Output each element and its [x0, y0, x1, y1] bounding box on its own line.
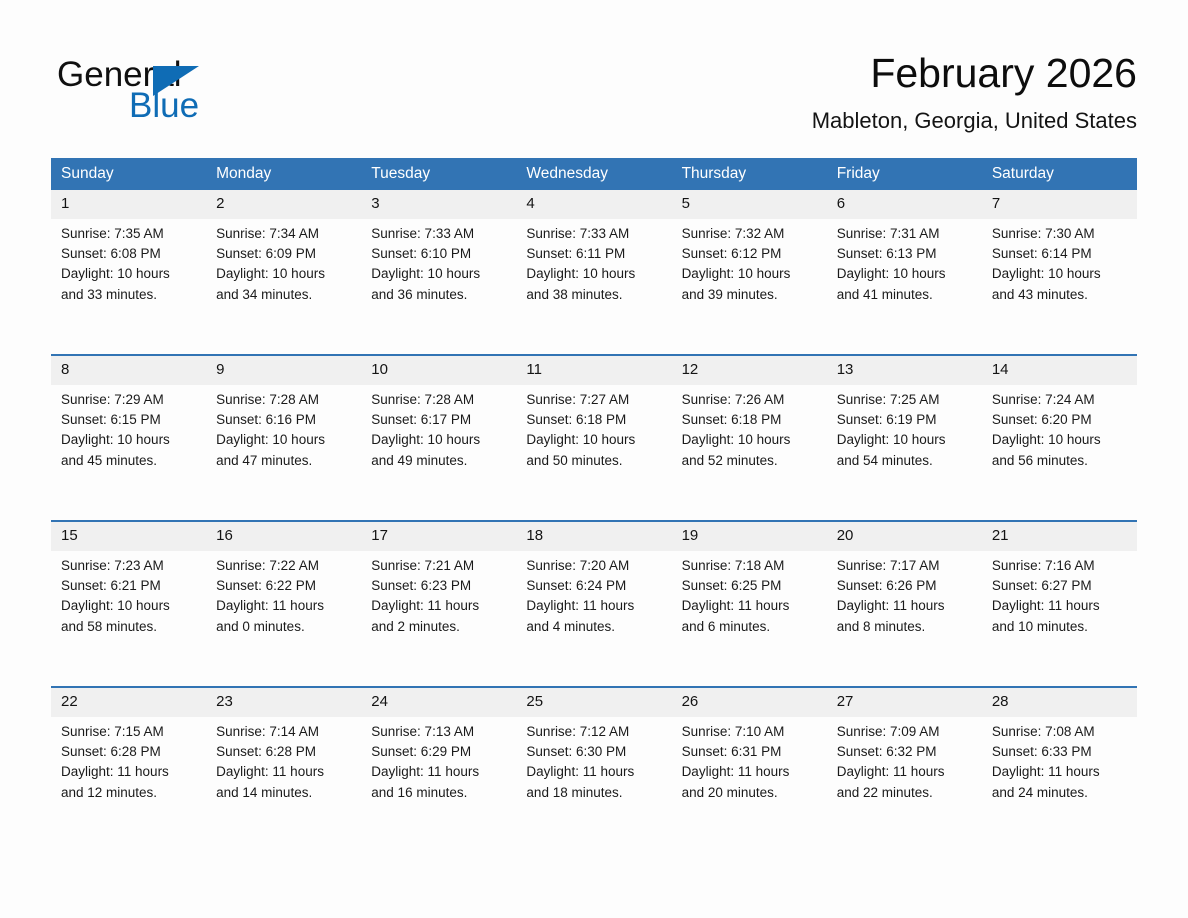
weekday-header-monday: Monday: [206, 158, 361, 190]
day-details: Sunrise: 7:35 AM Sunset: 6:08 PM Dayligh…: [51, 219, 206, 305]
week-row: 8 Sunrise: 7:29 AM Sunset: 6:15 PM Dayli…: [51, 355, 1137, 521]
logo-text-blue: Blue: [129, 87, 199, 125]
day-details: Sunrise: 7:14 AM Sunset: 6:28 PM Dayligh…: [206, 717, 361, 803]
week-row: 22 Sunrise: 7:15 AM Sunset: 6:28 PM Dayl…: [51, 687, 1137, 852]
sunrise-text: Sunrise: 7:18 AM: [682, 556, 819, 576]
day-cell[interactable]: 9 Sunrise: 7:28 AM Sunset: 6:16 PM Dayli…: [206, 355, 361, 521]
weekday-header-thursday: Thursday: [672, 158, 827, 190]
daylight-text-line1: Daylight: 11 hours: [682, 762, 819, 782]
daylight-text-line2: and 36 minutes.: [371, 285, 508, 305]
sunrise-text: Sunrise: 7:33 AM: [526, 224, 663, 244]
sunrise-text: Sunrise: 7:30 AM: [992, 224, 1129, 244]
page-title: February 2026: [812, 48, 1137, 98]
daylight-text-line2: and 54 minutes.: [837, 451, 974, 471]
day-details: Sunrise: 7:26 AM Sunset: 6:18 PM Dayligh…: [672, 385, 827, 471]
daylight-text-line1: Daylight: 10 hours: [992, 430, 1129, 450]
daylight-text-line2: and 12 minutes.: [61, 783, 198, 803]
day-number: 14: [982, 356, 1137, 385]
sunrise-text: Sunrise: 7:29 AM: [61, 390, 198, 410]
day-details: Sunrise: 7:10 AM Sunset: 6:31 PM Dayligh…: [672, 717, 827, 803]
day-number: 16: [206, 522, 361, 551]
day-number: 19: [672, 522, 827, 551]
day-number: 28: [982, 688, 1137, 717]
daylight-text-line2: and 52 minutes.: [682, 451, 819, 471]
daylight-text-line2: and 14 minutes.: [216, 783, 353, 803]
day-cell[interactable]: 4 Sunrise: 7:33 AM Sunset: 6:11 PM Dayli…: [516, 190, 671, 355]
weekday-header-wednesday: Wednesday: [516, 158, 671, 190]
day-number: 6: [827, 190, 982, 219]
daylight-text-line1: Daylight: 10 hours: [837, 264, 974, 284]
day-cell[interactable]: 27 Sunrise: 7:09 AM Sunset: 6:32 PM Dayl…: [827, 687, 982, 852]
day-cell[interactable]: 20 Sunrise: 7:17 AM Sunset: 6:26 PM Dayl…: [827, 521, 982, 687]
sunset-text: Sunset: 6:28 PM: [61, 742, 198, 762]
sunrise-text: Sunrise: 7:24 AM: [992, 390, 1129, 410]
sunset-text: Sunset: 6:32 PM: [837, 742, 974, 762]
sunrise-text: Sunrise: 7:17 AM: [837, 556, 974, 576]
sunrise-text: Sunrise: 7:25 AM: [837, 390, 974, 410]
day-cell[interactable]: 15 Sunrise: 7:23 AM Sunset: 6:21 PM Dayl…: [51, 521, 206, 687]
day-number: 8: [51, 356, 206, 385]
sunrise-text: Sunrise: 7:20 AM: [526, 556, 663, 576]
sunrise-text: Sunrise: 7:32 AM: [682, 224, 819, 244]
day-details: Sunrise: 7:28 AM Sunset: 6:16 PM Dayligh…: [206, 385, 361, 471]
day-details: Sunrise: 7:25 AM Sunset: 6:19 PM Dayligh…: [827, 385, 982, 471]
daylight-text-line1: Daylight: 11 hours: [216, 596, 353, 616]
day-number: 3: [361, 190, 516, 219]
day-details: Sunrise: 7:33 AM Sunset: 6:11 PM Dayligh…: [516, 219, 671, 305]
daylight-text-line1: Daylight: 11 hours: [526, 596, 663, 616]
sunset-text: Sunset: 6:10 PM: [371, 244, 508, 264]
sunset-text: Sunset: 6:08 PM: [61, 244, 198, 264]
day-cell[interactable]: 23 Sunrise: 7:14 AM Sunset: 6:28 PM Dayl…: [206, 687, 361, 852]
sunrise-text: Sunrise: 7:12 AM: [526, 722, 663, 742]
day-details: Sunrise: 7:31 AM Sunset: 6:13 PM Dayligh…: [827, 219, 982, 305]
day-cell[interactable]: 1 Sunrise: 7:35 AM Sunset: 6:08 PM Dayli…: [51, 190, 206, 355]
daylight-text-line1: Daylight: 10 hours: [216, 430, 353, 450]
weekday-header-saturday: Saturday: [982, 158, 1137, 190]
sunset-text: Sunset: 6:14 PM: [992, 244, 1129, 264]
daylight-text-line1: Daylight: 10 hours: [61, 596, 198, 616]
daylight-text-line1: Daylight: 10 hours: [526, 430, 663, 450]
day-cell[interactable]: 2 Sunrise: 7:34 AM Sunset: 6:09 PM Dayli…: [206, 190, 361, 355]
day-cell[interactable]: 12 Sunrise: 7:26 AM Sunset: 6:18 PM Dayl…: [672, 355, 827, 521]
day-cell[interactable]: 25 Sunrise: 7:12 AM Sunset: 6:30 PM Dayl…: [516, 687, 671, 852]
day-cell[interactable]: 28 Sunrise: 7:08 AM Sunset: 6:33 PM Dayl…: [982, 687, 1137, 852]
sunset-text: Sunset: 6:33 PM: [992, 742, 1129, 762]
daylight-text-line1: Daylight: 10 hours: [216, 264, 353, 284]
day-number: 7: [982, 190, 1137, 219]
sunrise-text: Sunrise: 7:10 AM: [682, 722, 819, 742]
day-number: 22: [51, 688, 206, 717]
day-cell[interactable]: 26 Sunrise: 7:10 AM Sunset: 6:31 PM Dayl…: [672, 687, 827, 852]
day-details: Sunrise: 7:28 AM Sunset: 6:17 PM Dayligh…: [361, 385, 516, 471]
daylight-text-line2: and 4 minutes.: [526, 617, 663, 637]
sunrise-text: Sunrise: 7:21 AM: [371, 556, 508, 576]
day-details: Sunrise: 7:24 AM Sunset: 6:20 PM Dayligh…: [982, 385, 1137, 471]
day-cell[interactable]: 24 Sunrise: 7:13 AM Sunset: 6:29 PM Dayl…: [361, 687, 516, 852]
day-number: 25: [516, 688, 671, 717]
sunrise-text: Sunrise: 7:16 AM: [992, 556, 1129, 576]
sunrise-text: Sunrise: 7:22 AM: [216, 556, 353, 576]
sunset-text: Sunset: 6:26 PM: [837, 576, 974, 596]
day-number: 1: [51, 190, 206, 219]
day-number: 9: [206, 356, 361, 385]
day-number: 10: [361, 356, 516, 385]
page-header: General Blue February 2026 Mableton, Geo…: [0, 0, 1188, 150]
daylight-text-line2: and 10 minutes.: [992, 617, 1129, 637]
day-number: 5: [672, 190, 827, 219]
day-details: Sunrise: 7:13 AM Sunset: 6:29 PM Dayligh…: [361, 717, 516, 803]
daylight-text-line1: Daylight: 11 hours: [216, 762, 353, 782]
location-subtitle: Mableton, Georgia, United States: [812, 106, 1137, 136]
daylight-text-line1: Daylight: 11 hours: [371, 762, 508, 782]
sunset-text: Sunset: 6:31 PM: [682, 742, 819, 762]
sunrise-text: Sunrise: 7:31 AM: [837, 224, 974, 244]
day-cell[interactable]: 22 Sunrise: 7:15 AM Sunset: 6:28 PM Dayl…: [51, 687, 206, 852]
day-details: Sunrise: 7:32 AM Sunset: 6:12 PM Dayligh…: [672, 219, 827, 305]
calendar-body: 1 Sunrise: 7:35 AM Sunset: 6:08 PM Dayli…: [51, 190, 1137, 852]
sunset-text: Sunset: 6:29 PM: [371, 742, 508, 762]
day-details: Sunrise: 7:16 AM Sunset: 6:27 PM Dayligh…: [982, 551, 1137, 637]
day-cell[interactable]: 17 Sunrise: 7:21 AM Sunset: 6:23 PM Dayl…: [361, 521, 516, 687]
sunset-text: Sunset: 6:24 PM: [526, 576, 663, 596]
sunrise-text: Sunrise: 7:23 AM: [61, 556, 198, 576]
day-details: Sunrise: 7:29 AM Sunset: 6:15 PM Dayligh…: [51, 385, 206, 471]
day-details: Sunrise: 7:34 AM Sunset: 6:09 PM Dayligh…: [206, 219, 361, 305]
day-details: Sunrise: 7:15 AM Sunset: 6:28 PM Dayligh…: [51, 717, 206, 803]
day-cell[interactable]: 7 Sunrise: 7:30 AM Sunset: 6:14 PM Dayli…: [982, 190, 1137, 355]
sunrise-text: Sunrise: 7:27 AM: [526, 390, 663, 410]
sunset-text: Sunset: 6:12 PM: [682, 244, 819, 264]
daylight-text-line2: and 20 minutes.: [682, 783, 819, 803]
day-cell[interactable]: 18 Sunrise: 7:20 AM Sunset: 6:24 PM Dayl…: [516, 521, 671, 687]
day-details: Sunrise: 7:12 AM Sunset: 6:30 PM Dayligh…: [516, 717, 671, 803]
day-number: 2: [206, 190, 361, 219]
daylight-text-line2: and 43 minutes.: [992, 285, 1129, 305]
day-details: Sunrise: 7:21 AM Sunset: 6:23 PM Dayligh…: [361, 551, 516, 637]
daylight-text-line1: Daylight: 11 hours: [61, 762, 198, 782]
daylight-text-line2: and 6 minutes.: [682, 617, 819, 637]
daylight-text-line1: Daylight: 11 hours: [837, 762, 974, 782]
sunset-text: Sunset: 6:19 PM: [837, 410, 974, 430]
daylight-text-line1: Daylight: 10 hours: [61, 264, 198, 284]
daylight-text-line1: Daylight: 11 hours: [837, 596, 974, 616]
daylight-text-line1: Daylight: 10 hours: [61, 430, 198, 450]
sunrise-text: Sunrise: 7:35 AM: [61, 224, 198, 244]
sunrise-text: Sunrise: 7:26 AM: [682, 390, 819, 410]
generalblue-logo[interactable]: General Blue: [57, 56, 297, 128]
sunrise-text: Sunrise: 7:08 AM: [992, 722, 1129, 742]
day-cell[interactable]: 6 Sunrise: 7:31 AM Sunset: 6:13 PM Dayli…: [827, 190, 982, 355]
sunrise-text: Sunrise: 7:13 AM: [371, 722, 508, 742]
day-details: Sunrise: 7:30 AM Sunset: 6:14 PM Dayligh…: [982, 219, 1137, 305]
day-details: Sunrise: 7:33 AM Sunset: 6:10 PM Dayligh…: [361, 219, 516, 305]
sunrise-sunset-calendar-table: Sunday Monday Tuesday Wednesday Thursday…: [51, 158, 1137, 852]
day-number: 13: [827, 356, 982, 385]
day-cell[interactable]: 13 Sunrise: 7:25 AM Sunset: 6:19 PM Dayl…: [827, 355, 982, 521]
day-cell[interactable]: 10 Sunrise: 7:28 AM Sunset: 6:17 PM Dayl…: [361, 355, 516, 521]
daylight-text-line2: and 16 minutes.: [371, 783, 508, 803]
daylight-text-line2: and 2 minutes.: [371, 617, 508, 637]
day-details: Sunrise: 7:09 AM Sunset: 6:32 PM Dayligh…: [827, 717, 982, 803]
sunrise-text: Sunrise: 7:09 AM: [837, 722, 974, 742]
sunset-text: Sunset: 6:22 PM: [216, 576, 353, 596]
sunset-text: Sunset: 6:28 PM: [216, 742, 353, 762]
sunrise-text: Sunrise: 7:14 AM: [216, 722, 353, 742]
daylight-text-line2: and 18 minutes.: [526, 783, 663, 803]
sunset-text: Sunset: 6:16 PM: [216, 410, 353, 430]
sunset-text: Sunset: 6:17 PM: [371, 410, 508, 430]
daylight-text-line2: and 50 minutes.: [526, 451, 663, 471]
daylight-text-line1: Daylight: 11 hours: [992, 596, 1129, 616]
day-details: Sunrise: 7:22 AM Sunset: 6:22 PM Dayligh…: [206, 551, 361, 637]
sunrise-text: Sunrise: 7:15 AM: [61, 722, 198, 742]
day-number: 15: [51, 522, 206, 551]
daylight-text-line2: and 34 minutes.: [216, 285, 353, 305]
sunset-text: Sunset: 6:18 PM: [526, 410, 663, 430]
day-number: 21: [982, 522, 1137, 551]
day-cell[interactable]: 3 Sunrise: 7:33 AM Sunset: 6:10 PM Dayli…: [361, 190, 516, 355]
sunset-text: Sunset: 6:23 PM: [371, 576, 508, 596]
day-details: Sunrise: 7:20 AM Sunset: 6:24 PM Dayligh…: [516, 551, 671, 637]
sunrise-text: Sunrise: 7:28 AM: [216, 390, 353, 410]
sunrise-text: Sunrise: 7:34 AM: [216, 224, 353, 244]
weekday-header-row: Sunday Monday Tuesday Wednesday Thursday…: [51, 158, 1137, 190]
daylight-text-line2: and 38 minutes.: [526, 285, 663, 305]
day-number: 11: [516, 356, 671, 385]
daylight-text-line2: and 47 minutes.: [216, 451, 353, 471]
daylight-text-line2: and 22 minutes.: [837, 783, 974, 803]
daylight-text-line1: Daylight: 11 hours: [526, 762, 663, 782]
daylight-text-line2: and 8 minutes.: [837, 617, 974, 637]
day-details: Sunrise: 7:23 AM Sunset: 6:21 PM Dayligh…: [51, 551, 206, 637]
sunrise-text: Sunrise: 7:28 AM: [371, 390, 508, 410]
sunset-text: Sunset: 6:20 PM: [992, 410, 1129, 430]
daylight-text-line2: and 39 minutes.: [682, 285, 819, 305]
weekday-header-sunday: Sunday: [51, 158, 206, 190]
weekday-header-friday: Friday: [827, 158, 982, 190]
sunrise-text: Sunrise: 7:33 AM: [371, 224, 508, 244]
day-number: 27: [827, 688, 982, 717]
day-number: 24: [361, 688, 516, 717]
daylight-text-line2: and 58 minutes.: [61, 617, 198, 637]
sunset-text: Sunset: 6:11 PM: [526, 244, 663, 264]
sunset-text: Sunset: 6:25 PM: [682, 576, 819, 596]
sunset-text: Sunset: 6:30 PM: [526, 742, 663, 762]
day-cell[interactable]: 21 Sunrise: 7:16 AM Sunset: 6:27 PM Dayl…: [982, 521, 1137, 687]
day-cell[interactable]: 16 Sunrise: 7:22 AM Sunset: 6:22 PM Dayl…: [206, 521, 361, 687]
daylight-text-line2: and 24 minutes.: [992, 783, 1129, 803]
title-block: February 2026 Mableton, Georgia, United …: [812, 48, 1137, 136]
day-number: 4: [516, 190, 671, 219]
daylight-text-line1: Daylight: 10 hours: [526, 264, 663, 284]
week-row: 1 Sunrise: 7:35 AM Sunset: 6:08 PM Dayli…: [51, 190, 1137, 355]
daylight-text-line1: Daylight: 11 hours: [371, 596, 508, 616]
daylight-text-line1: Daylight: 10 hours: [682, 264, 819, 284]
day-cell[interactable]: 8 Sunrise: 7:29 AM Sunset: 6:15 PM Dayli…: [51, 355, 206, 521]
day-details: Sunrise: 7:18 AM Sunset: 6:25 PM Dayligh…: [672, 551, 827, 637]
sunset-text: Sunset: 6:27 PM: [992, 576, 1129, 596]
day-number: 20: [827, 522, 982, 551]
day-details: Sunrise: 7:27 AM Sunset: 6:18 PM Dayligh…: [516, 385, 671, 471]
day-cell[interactable]: 11 Sunrise: 7:27 AM Sunset: 6:18 PM Dayl…: [516, 355, 671, 521]
daylight-text-line1: Daylight: 10 hours: [682, 430, 819, 450]
day-cell[interactable]: 5 Sunrise: 7:32 AM Sunset: 6:12 PM Dayli…: [672, 190, 827, 355]
weekday-header-tuesday: Tuesday: [361, 158, 516, 190]
day-details: Sunrise: 7:08 AM Sunset: 6:33 PM Dayligh…: [982, 717, 1137, 803]
day-details: Sunrise: 7:17 AM Sunset: 6:26 PM Dayligh…: [827, 551, 982, 637]
sunset-text: Sunset: 6:09 PM: [216, 244, 353, 264]
day-cell[interactable]: 19 Sunrise: 7:18 AM Sunset: 6:25 PM Dayl…: [672, 521, 827, 687]
daylight-text-line2: and 41 minutes.: [837, 285, 974, 305]
sunset-text: Sunset: 6:18 PM: [682, 410, 819, 430]
daylight-text-line2: and 0 minutes.: [216, 617, 353, 637]
daylight-text-line2: and 49 minutes.: [371, 451, 508, 471]
daylight-text-line2: and 33 minutes.: [61, 285, 198, 305]
daylight-text-line1: Daylight: 11 hours: [992, 762, 1129, 782]
day-cell[interactable]: 14 Sunrise: 7:24 AM Sunset: 6:20 PM Dayl…: [982, 355, 1137, 521]
calendar-page: General Blue February 2026 Mableton, Geo…: [0, 0, 1188, 918]
daylight-text-line1: Daylight: 11 hours: [682, 596, 819, 616]
day-number: 26: [672, 688, 827, 717]
day-number: 18: [516, 522, 671, 551]
daylight-text-line1: Daylight: 10 hours: [837, 430, 974, 450]
day-number: 23: [206, 688, 361, 717]
daylight-text-line2: and 45 minutes.: [61, 451, 198, 471]
daylight-text-line1: Daylight: 10 hours: [992, 264, 1129, 284]
sunset-text: Sunset: 6:21 PM: [61, 576, 198, 596]
sunset-text: Sunset: 6:13 PM: [837, 244, 974, 264]
day-number: 12: [672, 356, 827, 385]
day-number: 17: [361, 522, 516, 551]
sunset-text: Sunset: 6:15 PM: [61, 410, 198, 430]
daylight-text-line1: Daylight: 10 hours: [371, 430, 508, 450]
daylight-text-line1: Daylight: 10 hours: [371, 264, 508, 284]
daylight-text-line2: and 56 minutes.: [992, 451, 1129, 471]
week-row: 15 Sunrise: 7:23 AM Sunset: 6:21 PM Dayl…: [51, 521, 1137, 687]
